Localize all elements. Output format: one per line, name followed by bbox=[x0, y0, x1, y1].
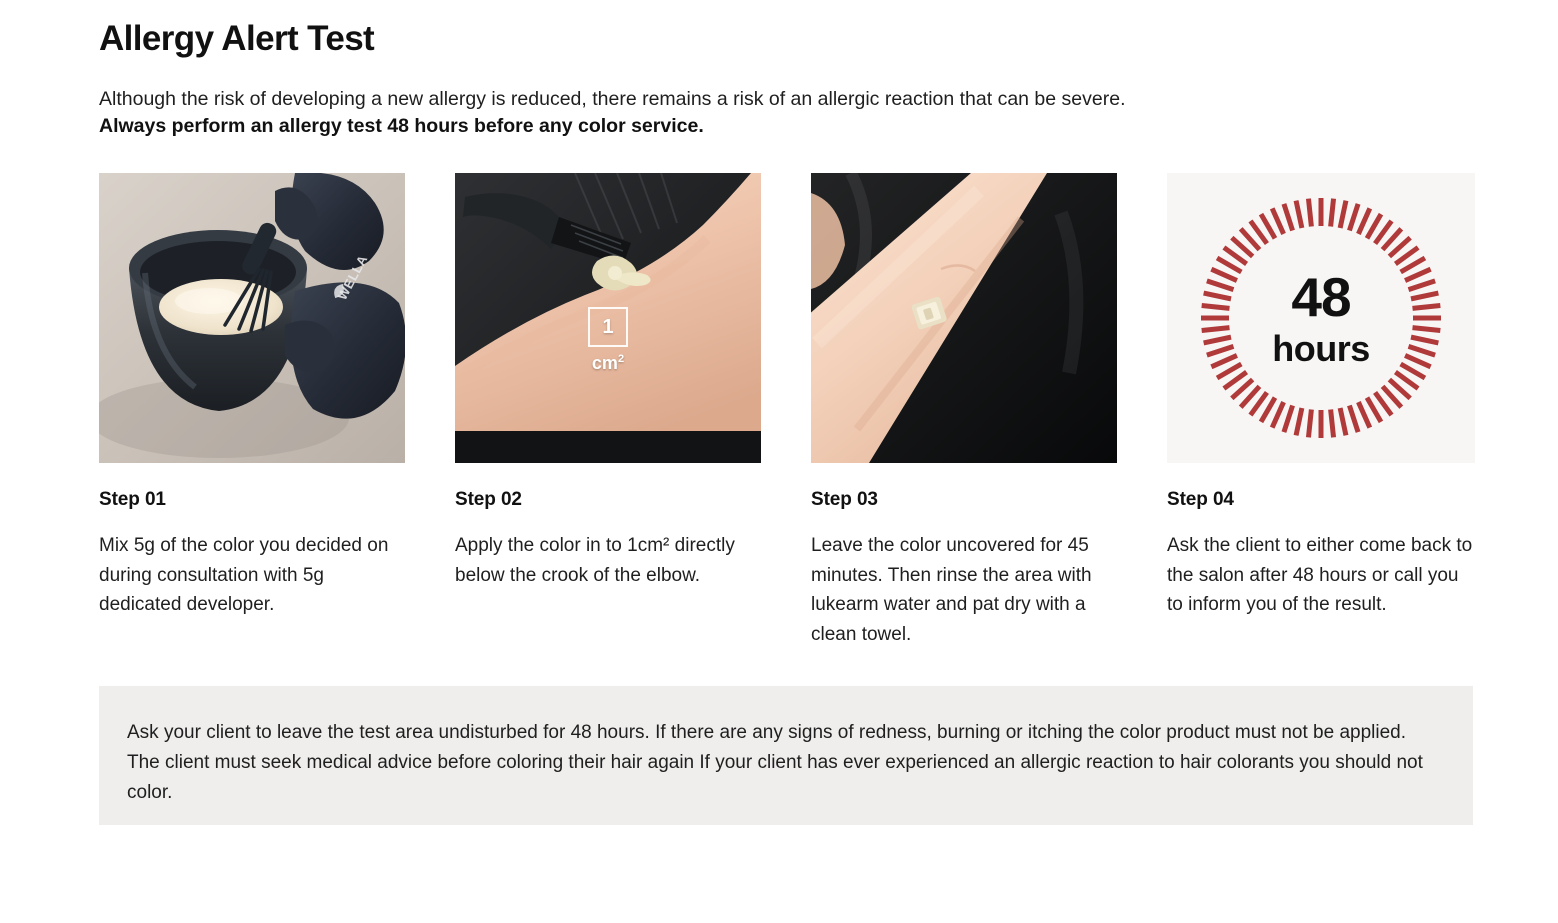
timer-number: 48 bbox=[1291, 270, 1350, 325]
step-02-image: 1 cm2 bbox=[455, 173, 761, 463]
step-card-03: Step 03 Leave the color uncovered for 45… bbox=[811, 173, 1117, 650]
disclaimer-text: Ask your client to leave the test area u… bbox=[127, 718, 1443, 808]
steps-grid: WELLA Step 01 Mix 5g of the color you de… bbox=[99, 173, 1473, 650]
step-card-02: 1 cm2 Step 02 Apply the color in to 1cm²… bbox=[455, 173, 761, 650]
step-03-body: Leave the color uncovered for 45 minutes… bbox=[811, 531, 1117, 650]
intro-emphasis-text: Always perform an allergy test 48 hours … bbox=[99, 113, 1399, 141]
step-card-01: WELLA Step 01 Mix 5g of the color you de… bbox=[99, 173, 405, 650]
timer-unit: hours bbox=[1272, 331, 1370, 367]
timer-label-group: 48 hours bbox=[1195, 192, 1447, 444]
step-04-timer-graphic: 48 hours bbox=[1167, 173, 1475, 463]
step-card-04: 48 hours Step 04 Ask the client to eithe… bbox=[1167, 173, 1475, 650]
step-02-body: Apply the color in to 1cm² directly belo… bbox=[455, 531, 761, 590]
page-title: Allergy Alert Test bbox=[99, 20, 1473, 59]
step-03-label: Step 03 bbox=[811, 489, 1117, 511]
step-04-body: Ask the client to either come back to th… bbox=[1167, 531, 1475, 620]
step-03-image bbox=[811, 173, 1117, 463]
step-01-body: Mix 5g of the color you decided on durin… bbox=[99, 531, 405, 620]
allergy-alert-page: Allergy Alert Test Although the risk of … bbox=[99, 0, 1473, 923]
step-04-label: Step 04 bbox=[1167, 489, 1475, 511]
step-01-image: WELLA bbox=[99, 173, 405, 463]
step-01-label: Step 01 bbox=[99, 489, 405, 511]
step-02-label: Step 02 bbox=[455, 489, 761, 511]
intro-lead-text: Although the risk of developing a new al… bbox=[99, 86, 1399, 114]
intro-paragraph: Although the risk of developing a new al… bbox=[99, 86, 1399, 141]
disclaimer-box: Ask your client to leave the test area u… bbox=[99, 686, 1473, 825]
